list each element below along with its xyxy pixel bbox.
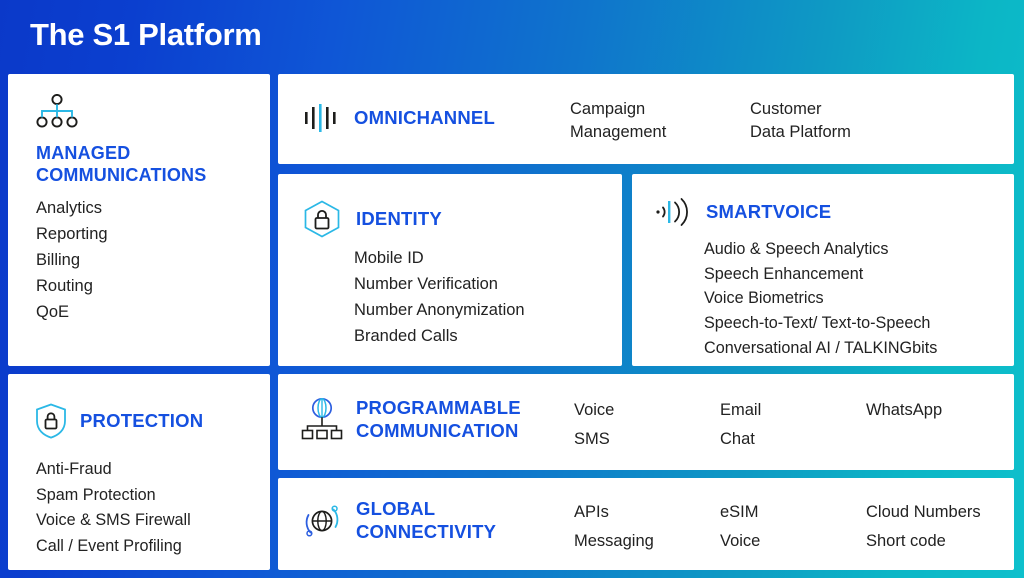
list-item: Mobile ID <box>354 245 525 271</box>
card-title-protection: PROTECTION <box>80 410 203 431</box>
list-item: Conversational AI / TALKINGbits <box>704 336 937 361</box>
list-item: Customer <box>750 98 930 121</box>
card-title-programmable-communication: PROGRAMMABLE COMMUNICATION <box>356 397 521 442</box>
list-item: Cloud Numbers <box>866 498 1012 527</box>
card-managed-communications[interactable]: MANAGED COMMUNICATIONS Analytics Reporti… <box>8 74 270 366</box>
sound-bars-icon <box>302 103 342 133</box>
list-item: Audio & Speech Analytics <box>704 237 937 262</box>
shield-lock-icon <box>34 402 68 440</box>
item-list-identity: Mobile ID Number Verification Number Ano… <box>354 245 525 349</box>
list-item: SMS <box>574 425 720 454</box>
card-omnichannel[interactable]: OMNICHANNEL Campaign Management Customer… <box>278 74 1014 164</box>
item-list-managed-communications: Analytics Reporting Billing Routing QoE <box>36 195 108 325</box>
list-item: Routing <box>36 273 108 299</box>
list-item: Call / Event Profiling <box>36 534 191 560</box>
card-global-connectivity[interactable]: GLOBAL CONNECTIVITY APIs Messaging eSIM … <box>278 478 1014 570</box>
network-tree-icon <box>36 94 78 128</box>
list-item: Voice & SMS Firewall <box>36 508 191 534</box>
item-list-smartvoice: Audio & Speech Analytics Speech Enhancem… <box>704 237 937 360</box>
list-item: Management <box>570 121 750 144</box>
card-header-smartvoice: SMARTVOICE <box>654 196 831 228</box>
card-header-omnichannel: OMNICHANNEL <box>302 103 495 133</box>
list-item: Voice Biometrics <box>704 286 937 311</box>
list-item: Email <box>720 396 866 425</box>
list-item: Reporting <box>36 221 108 247</box>
card-header-protection: PROTECTION <box>34 402 203 440</box>
card-protection[interactable]: PROTECTION Anti-Fraud Spam Protection Vo… <box>8 374 270 570</box>
list-item: Voice <box>720 527 866 556</box>
item-list-protection: Anti-Fraud Spam Protection Voice & SMS F… <box>36 457 191 559</box>
card-programmable-communication[interactable]: PROGRAMMABLE COMMUNICATION Voice SMS Ema… <box>278 374 1014 470</box>
list-item: Campaign <box>570 98 750 121</box>
list-item: Speech-to-Text/ Text-to-Speech <box>704 311 937 336</box>
card-title-omnichannel: OMNICHANNEL <box>354 107 495 128</box>
card-identity[interactable]: IDENTITY Mobile ID Number Verification N… <box>278 174 622 366</box>
item-columns-programmable-communication: Voice SMS Email Chat WhatsApp <box>574 396 1012 455</box>
list-item: Number Anonymization <box>354 297 525 323</box>
item-column: APIs Messaging <box>574 498 720 557</box>
list-item: Speech Enhancement <box>704 262 937 287</box>
list-item: Data Platform <box>750 121 930 144</box>
globe-network-icon <box>300 397 344 443</box>
list-item: Chat <box>720 425 866 454</box>
item-column: Email Chat <box>720 396 866 455</box>
list-item: Spam Protection <box>36 483 191 509</box>
list-item: Number Verification <box>354 271 525 297</box>
list-item: Anti-Fraud <box>36 457 191 483</box>
item-column: Cloud Numbers Short code <box>866 498 1012 557</box>
card-smartvoice[interactable]: SMARTVOICE Audio & Speech Analytics Spee… <box>632 174 1014 366</box>
card-header-programmable-communication: PROGRAMMABLE COMMUNICATION <box>300 397 521 443</box>
list-item: Analytics <box>36 195 108 221</box>
item-column: Customer Data Platform <box>750 98 930 145</box>
card-title-global-connectivity: GLOBAL CONNECTIVITY <box>356 498 496 543</box>
hexagon-lock-icon <box>300 199 344 239</box>
list-item: QoE <box>36 299 108 325</box>
list-item: Billing <box>36 247 108 273</box>
list-item: eSIM <box>720 498 866 527</box>
globe-orbit-icon <box>300 499 344 543</box>
card-title-smartvoice: SMARTVOICE <box>706 201 831 222</box>
card-title-managed-communications: MANAGED COMMUNICATIONS <box>36 142 206 187</box>
item-column: Voice SMS <box>574 396 720 455</box>
list-item: Messaging <box>574 527 720 556</box>
card-header-global-connectivity: GLOBAL CONNECTIVITY <box>300 498 496 543</box>
item-column: WhatsApp <box>866 396 1012 455</box>
list-item: Branded Calls <box>354 323 525 349</box>
item-columns-global-connectivity: APIs Messaging eSIM Voice Cloud Numbers … <box>574 498 1012 557</box>
page-title: The S1 Platform <box>30 17 262 53</box>
platform-diagram: The S1 Platform MANAGED COMMUNICATIONS A… <box>0 0 1024 578</box>
card-header-identity: IDENTITY <box>300 199 442 239</box>
item-column: Campaign Management <box>570 98 750 145</box>
item-columns-omnichannel: Campaign Management Customer Data Platfo… <box>570 98 930 145</box>
list-item: Voice <box>574 396 720 425</box>
item-column: eSIM Voice <box>720 498 866 557</box>
list-item: APIs <box>574 498 720 527</box>
voice-wave-icon <box>654 196 694 228</box>
card-title-identity: IDENTITY <box>356 208 442 229</box>
list-item: Short code <box>866 527 1012 556</box>
list-item: WhatsApp <box>866 396 1012 425</box>
